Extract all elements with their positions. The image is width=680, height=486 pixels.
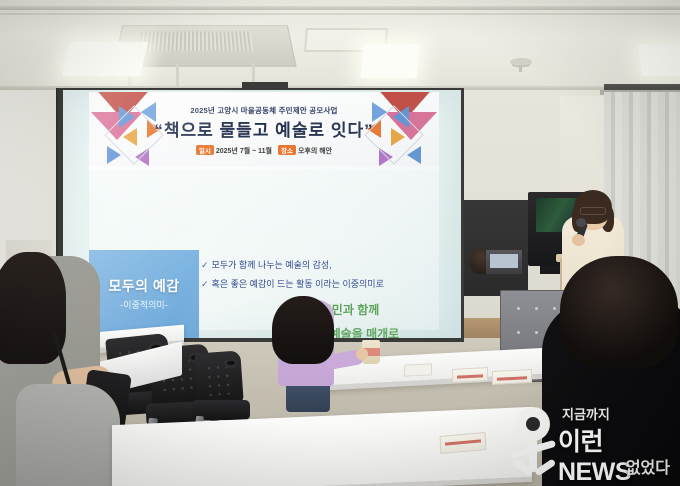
slide-title: “책으로 물들고 예술로 잇다” xyxy=(89,116,439,141)
news-logo-mark xyxy=(502,402,564,478)
attendee-hair xyxy=(560,256,678,368)
vent-bracket xyxy=(176,64,179,88)
meta-tag-place: 장소 xyxy=(278,145,296,155)
handout-paper xyxy=(452,367,488,383)
watermark-line-3: 없었다 xyxy=(626,454,670,478)
sprinkler-stem xyxy=(519,65,522,72)
child-hand xyxy=(356,348,368,360)
panel-light-icon xyxy=(62,42,148,76)
list-item: ✓혹은 좋은 예감이 드는 활동 이라는 이중의미로 xyxy=(201,277,461,290)
watermark-line-1: 지금까지 xyxy=(562,404,610,423)
panel-light-icon xyxy=(638,44,680,76)
draped-blanket xyxy=(16,384,120,486)
laptop-icon xyxy=(486,250,522,274)
callout-heading: 모두의 예감 xyxy=(89,276,199,296)
eyeglasses-icon xyxy=(580,207,606,215)
news-watermark: 지금까지 이런 NEWS 없었다 xyxy=(498,398,680,486)
projection-screen: 모두의 예감(예술 감성)은 2025년 고양시 마을공동체 주민제안 공모사업 xyxy=(63,90,461,338)
vent-grille xyxy=(139,31,254,51)
bullet-text: 혹은 좋은 예감이 드는 활동 이라는 이중의미로 xyxy=(212,279,384,289)
dark-alcove xyxy=(462,200,528,296)
meta-value-date: 2025년 7월 ~ 11월 xyxy=(216,148,272,155)
ceiling-rail-secondary xyxy=(0,13,680,15)
check-icon: ✓ xyxy=(201,279,209,289)
slide-meta-row: 일시2025년 7월 ~ 11월장소오후의 해안 xyxy=(89,145,439,156)
slide-program-line: 2025년 고양시 마을공동체 주민제안 공모사업 xyxy=(89,105,439,116)
callout-subheading: -이중적의미- xyxy=(89,298,199,311)
ceiling xyxy=(0,0,680,92)
handout-paper xyxy=(492,369,532,385)
slide-bullet-list: ✓모두가 함께 나누는 예술의 감성, ✓혹은 좋은 예감이 드는 활동 이라는… xyxy=(201,258,461,296)
child-hair xyxy=(272,296,334,364)
bullet-text: 모두가 함께 나누는 예술의 감성, xyxy=(212,260,332,270)
panel-light-icon xyxy=(361,44,420,78)
microphone-head xyxy=(576,218,586,227)
list-item: ✓모두가 함께 나누는 예술의 감성, xyxy=(201,258,461,271)
meta-tag-date: 일시 xyxy=(196,145,214,155)
chair-handle xyxy=(224,358,238,368)
check-icon: ✓ xyxy=(201,260,209,270)
slide-banner: 2025년 고양시 마을공동체 주민제안 공모사업 “책으로 물들고 예술로 잇… xyxy=(89,92,439,170)
news-photograph: 모두의 예감(예술 감성)은 2025년 고양시 마을공동체 주민제안 공모사업 xyxy=(0,0,680,486)
ceiling-rail xyxy=(0,6,680,10)
slide-content-area: 모두의 예감 -이중적의미- ✓모두가 함께 나누는 예술의 감성, ✓혹은 좋… xyxy=(89,166,439,330)
chair-back xyxy=(194,350,244,405)
handout-paper xyxy=(404,363,432,376)
meta-value-place: 오후의 해안 xyxy=(298,148,332,155)
